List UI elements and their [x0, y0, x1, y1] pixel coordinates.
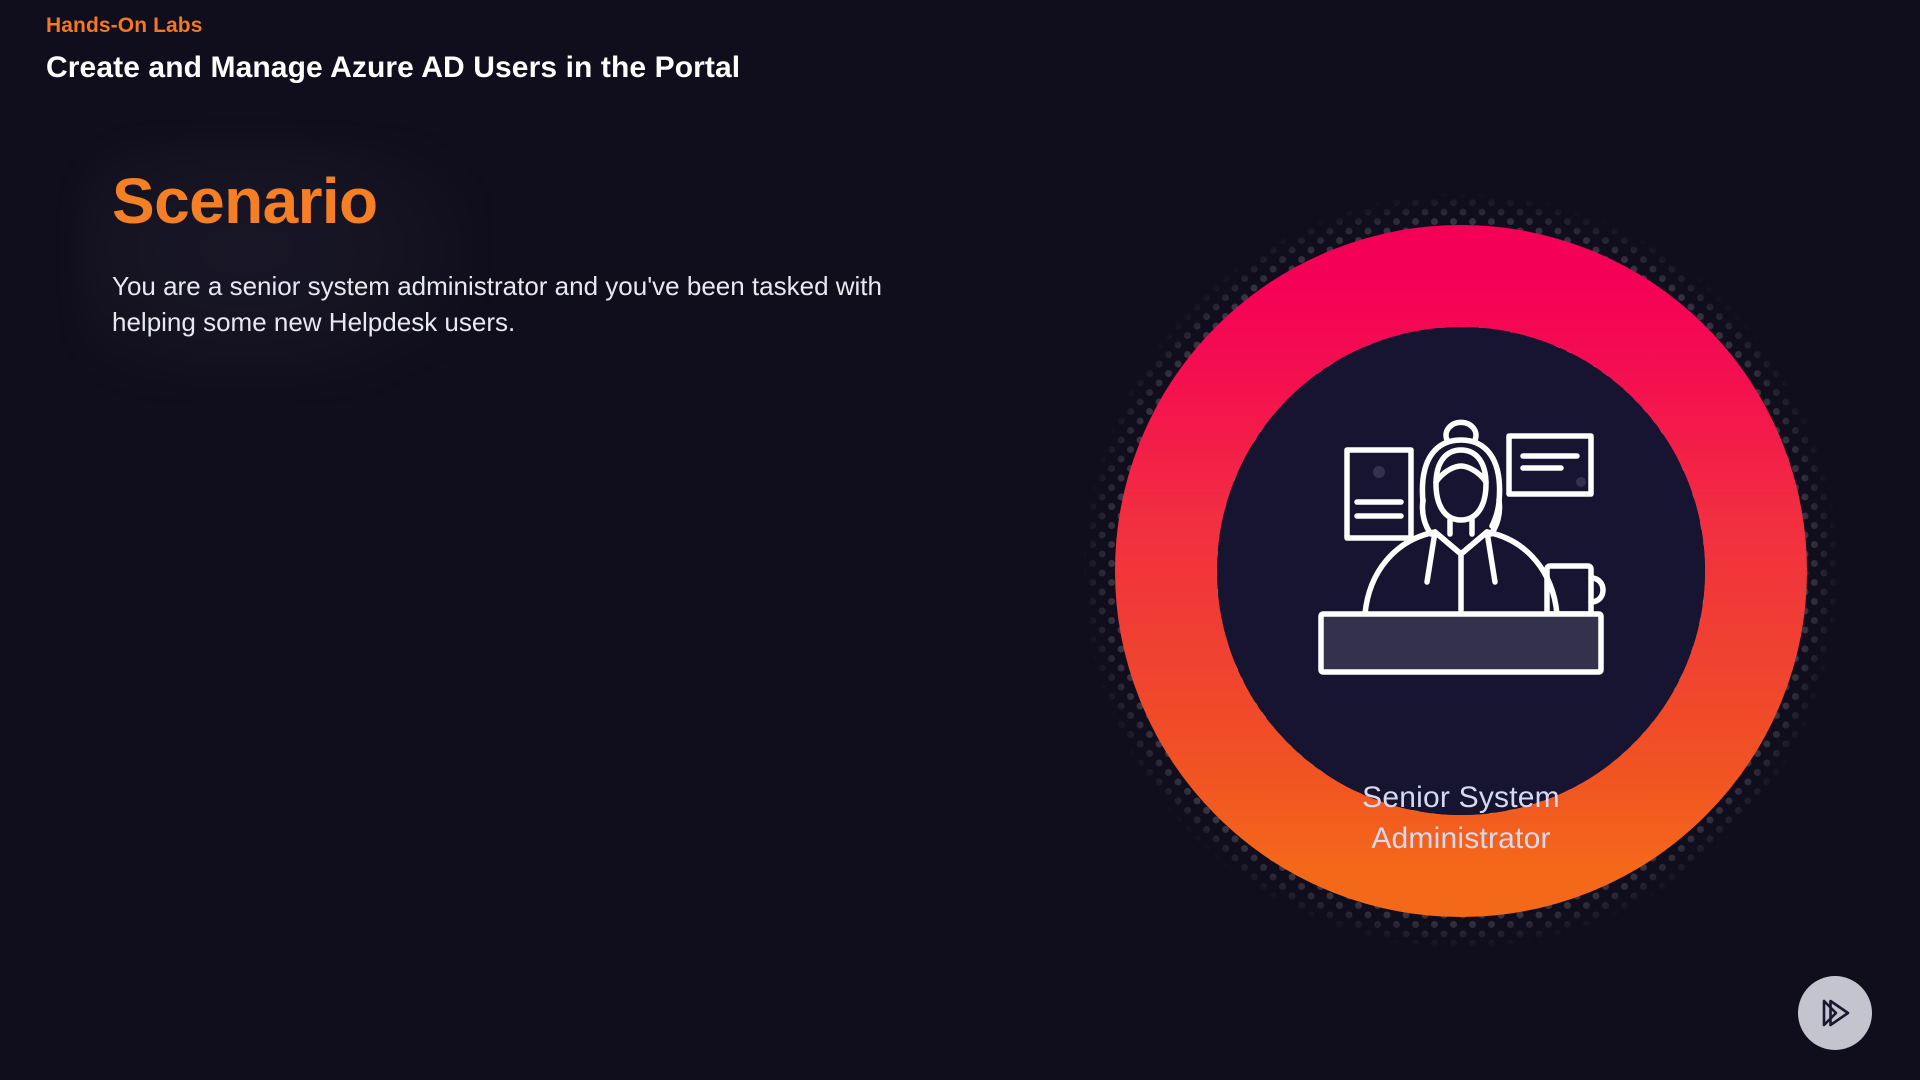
section-heading: Scenario: [112, 168, 972, 235]
scenario-graphic: Senior System Administrator: [1078, 188, 1844, 954]
ring-graphic-svg: [1078, 188, 1844, 954]
scenario-copy-block: Scenario You are a senior system adminis…: [112, 168, 972, 340]
play-button[interactable]: [1798, 976, 1872, 1050]
slide-canvas: Hands-On Labs Create and Manage Azure AD…: [0, 0, 1920, 1080]
slide-header: Hands-On Labs Create and Manage Azure AD…: [46, 12, 740, 87]
eyebrow-label: Hands-On Labs: [46, 12, 740, 39]
scenario-body-text: You are a senior system administrator an…: [112, 269, 952, 340]
double-play-icon: [1815, 993, 1855, 1033]
page-title: Create and Manage Azure AD Users in the …: [46, 49, 740, 87]
